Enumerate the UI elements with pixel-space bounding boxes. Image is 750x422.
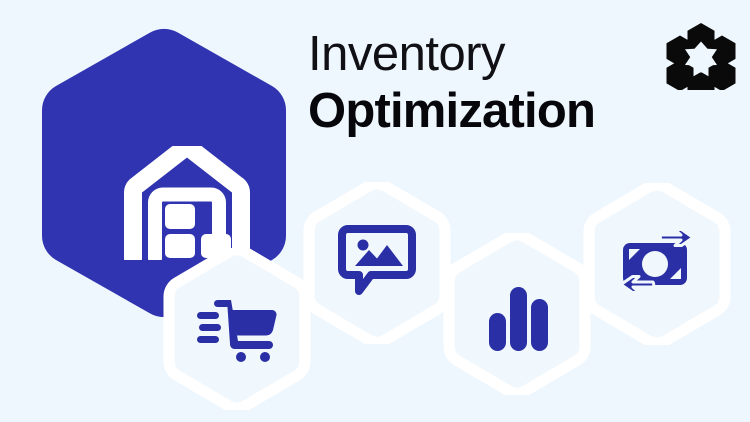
- warehouse-icon: [124, 146, 250, 260]
- page-title: Inventory Optimization: [308, 26, 638, 140]
- money-transfer-icon: [613, 229, 701, 299]
- shopping-cart-icon: [197, 296, 277, 362]
- hexagon-cluster-logo: [666, 20, 736, 90]
- feature-hexagon-money-transfer: [583, 183, 731, 345]
- feature-hexagon-image-message: [303, 182, 451, 344]
- title-line-secondary: Optimization: [308, 82, 638, 140]
- feature-hexagon-cart: [163, 248, 311, 410]
- bar-chart-icon: [483, 285, 553, 351]
- image-message-icon: [337, 224, 417, 302]
- title-line-primary: Inventory: [308, 26, 638, 82]
- feature-hexagon-bar-chart: [443, 233, 591, 395]
- banner-canvas: Inventory Optimization: [0, 0, 750, 422]
